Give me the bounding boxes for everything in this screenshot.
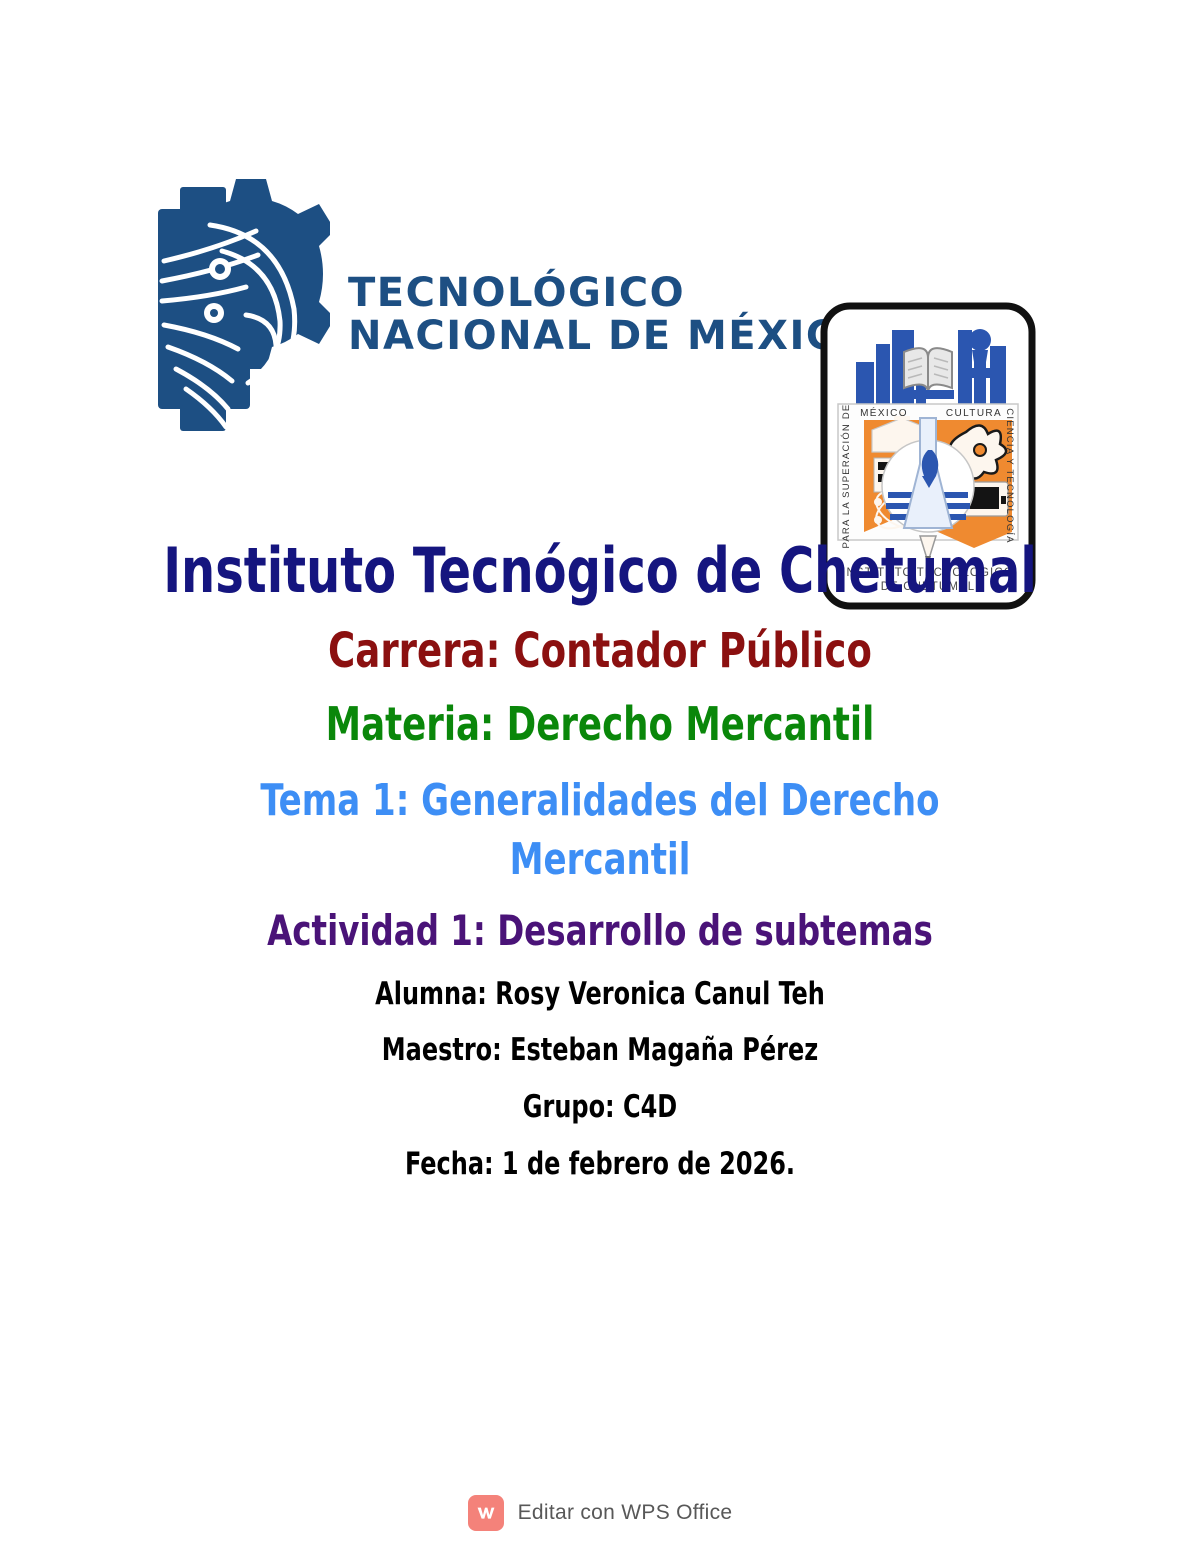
tema-line: Tema 1: Generalidades del Derecho Mercan… <box>204 771 995 890</box>
seal-right-motto: CIENCIA Y TECNOLOGÍA <box>1004 408 1015 543</box>
seal-word-mexico: MÉXICO <box>860 406 908 419</box>
tecnm-logo: TECNOLÓGICO NACIONAL DE MÉXICO® <box>150 160 790 460</box>
wps-office-label: Editar con WPS Office <box>518 1501 733 1525</box>
document-header: TECNOLÓGICO NACIONAL DE MÉXICO® <box>0 150 1200 470</box>
fecha-line: Fecha: 1 de febrero de 2026. <box>136 1147 1065 1182</box>
alumna-line: Alumna: Rosy Veronica Canul Teh <box>136 977 1065 1012</box>
wps-office-footer[interactable]: Editar con WPS Office <box>0 1495 1200 1531</box>
seal-word-cultura: CULTURA <box>946 408 1002 419</box>
seal-left-motto: PARA LA SUPERACIÓN DE <box>841 404 852 549</box>
actividad-line: Actividad 1: Desarrollo de subtemas <box>136 907 1065 954</box>
institute-title: Instituto Tecnógico de Chetumal <box>136 536 1065 605</box>
wps-office-icon[interactable] <box>468 1495 504 1531</box>
cover-title-block: Instituto Tecnógico de Chetumal Carrera:… <box>60 536 1140 1203</box>
carrera-line: Carrera: Contador Público <box>136 625 1065 679</box>
materia-line: Materia: Derecho Mercantil <box>136 699 1065 751</box>
tecnm-gear-eagle-logo <box>150 165 330 455</box>
maestro-line: Maestro: Esteban Magaña Pérez <box>136 1033 1065 1068</box>
grupo-line: Grupo: C4D <box>136 1090 1065 1125</box>
